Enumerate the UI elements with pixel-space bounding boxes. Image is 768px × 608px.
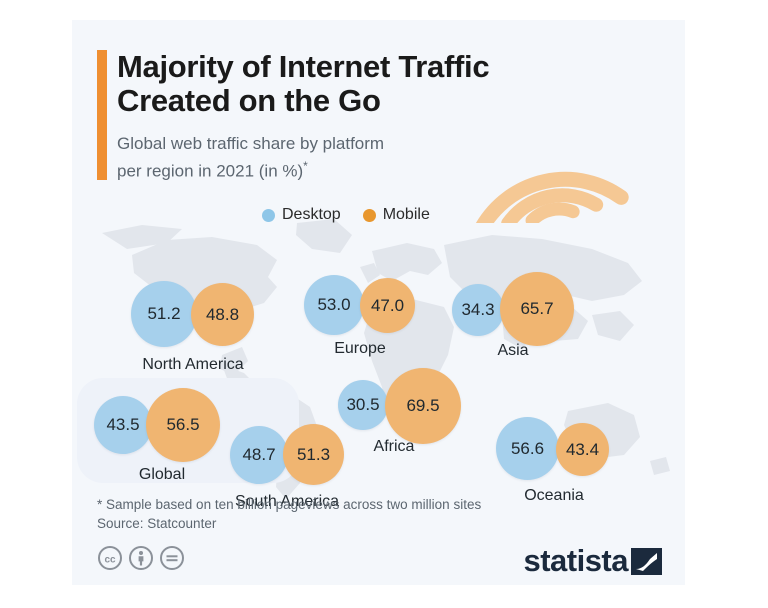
region-group-asia[interactable]: 34.3 65.7 Asia bbox=[452, 272, 632, 372]
region-group-europe[interactable]: 53.0 47.0 Europe bbox=[304, 270, 469, 365]
infographic-panel: Majority of Internet Traffic Created on … bbox=[72, 20, 685, 585]
footer: cc statista bbox=[97, 545, 662, 585]
legend-label-mobile: Mobile bbox=[383, 206, 430, 224]
legend-item-mobile[interactable]: Mobile bbox=[363, 206, 430, 224]
footnote-block: * Sample based on ten billion pageviews … bbox=[97, 495, 481, 533]
bubble-mobile-asia[interactable]: 65.7 bbox=[500, 272, 574, 346]
creative-commons-by-icon[interactable] bbox=[128, 545, 154, 571]
bubble-mobile-south-america[interactable]: 51.3 bbox=[283, 424, 344, 485]
subtitle-line-2-text: per region in 2021 (in %) bbox=[117, 162, 303, 181]
statista-logo-mark-icon bbox=[631, 546, 662, 577]
region-group-north-america[interactable]: 51.2 48.8 North America bbox=[131, 278, 331, 373]
title-line-1: Majority of Internet Traffic bbox=[117, 50, 637, 84]
legend: Desktop Mobile bbox=[262, 206, 430, 224]
bubble-mobile-global[interactable]: 56.5 bbox=[146, 388, 220, 462]
legend-label-desktop: Desktop bbox=[282, 206, 341, 224]
footnote-text: * Sample based on ten billion pageviews … bbox=[97, 495, 481, 514]
legend-dot-orange-icon bbox=[363, 209, 376, 222]
statista-wordmark: statista bbox=[523, 545, 628, 577]
bubble-desktop-europe[interactable]: 53.0 bbox=[304, 275, 364, 335]
region-label-africa: Africa bbox=[348, 438, 440, 456]
bubble-mobile-oceania[interactable]: 43.4 bbox=[556, 423, 609, 476]
bubble-mobile-africa[interactable]: 69.5 bbox=[385, 368, 461, 444]
bubble-mobile-north-america[interactable]: 48.8 bbox=[191, 283, 254, 346]
footnote-marker: * bbox=[303, 159, 308, 173]
bubble-desktop-africa[interactable]: 30.5 bbox=[338, 380, 388, 430]
svg-text:cc: cc bbox=[104, 555, 116, 566]
bubble-desktop-south-america[interactable]: 48.7 bbox=[230, 426, 288, 484]
region-label-global: Global bbox=[107, 466, 217, 484]
statista-logo[interactable]: statista bbox=[523, 545, 662, 577]
region-label-europe: Europe bbox=[312, 340, 408, 358]
creative-commons-nd-icon[interactable] bbox=[159, 545, 185, 571]
source-text: Source: Statcounter bbox=[97, 514, 481, 533]
bubble-desktop-global[interactable]: 43.5 bbox=[94, 396, 152, 454]
region-label-asia: Asia bbox=[474, 342, 552, 360]
creative-commons-icon[interactable]: cc bbox=[97, 545, 123, 571]
wifi-arcs-icon bbox=[468, 108, 638, 223]
title-accent-bar bbox=[97, 50, 107, 180]
bubble-desktop-north-america[interactable]: 51.2 bbox=[131, 281, 197, 347]
legend-dot-blue-icon bbox=[262, 209, 275, 222]
bubble-desktop-asia[interactable]: 34.3 bbox=[452, 284, 504, 336]
region-group-oceania[interactable]: 56.6 43.4 Oceania bbox=[496, 415, 671, 510]
legend-item-desktop[interactable]: Desktop bbox=[262, 206, 341, 224]
creative-commons-license-icons: cc bbox=[97, 545, 185, 571]
bubble-desktop-oceania[interactable]: 56.6 bbox=[496, 417, 559, 480]
region-label-north-america: North America bbox=[129, 356, 257, 374]
region-label-oceania: Oceania bbox=[502, 487, 606, 505]
bubble-mobile-europe[interactable]: 47.0 bbox=[360, 278, 415, 333]
